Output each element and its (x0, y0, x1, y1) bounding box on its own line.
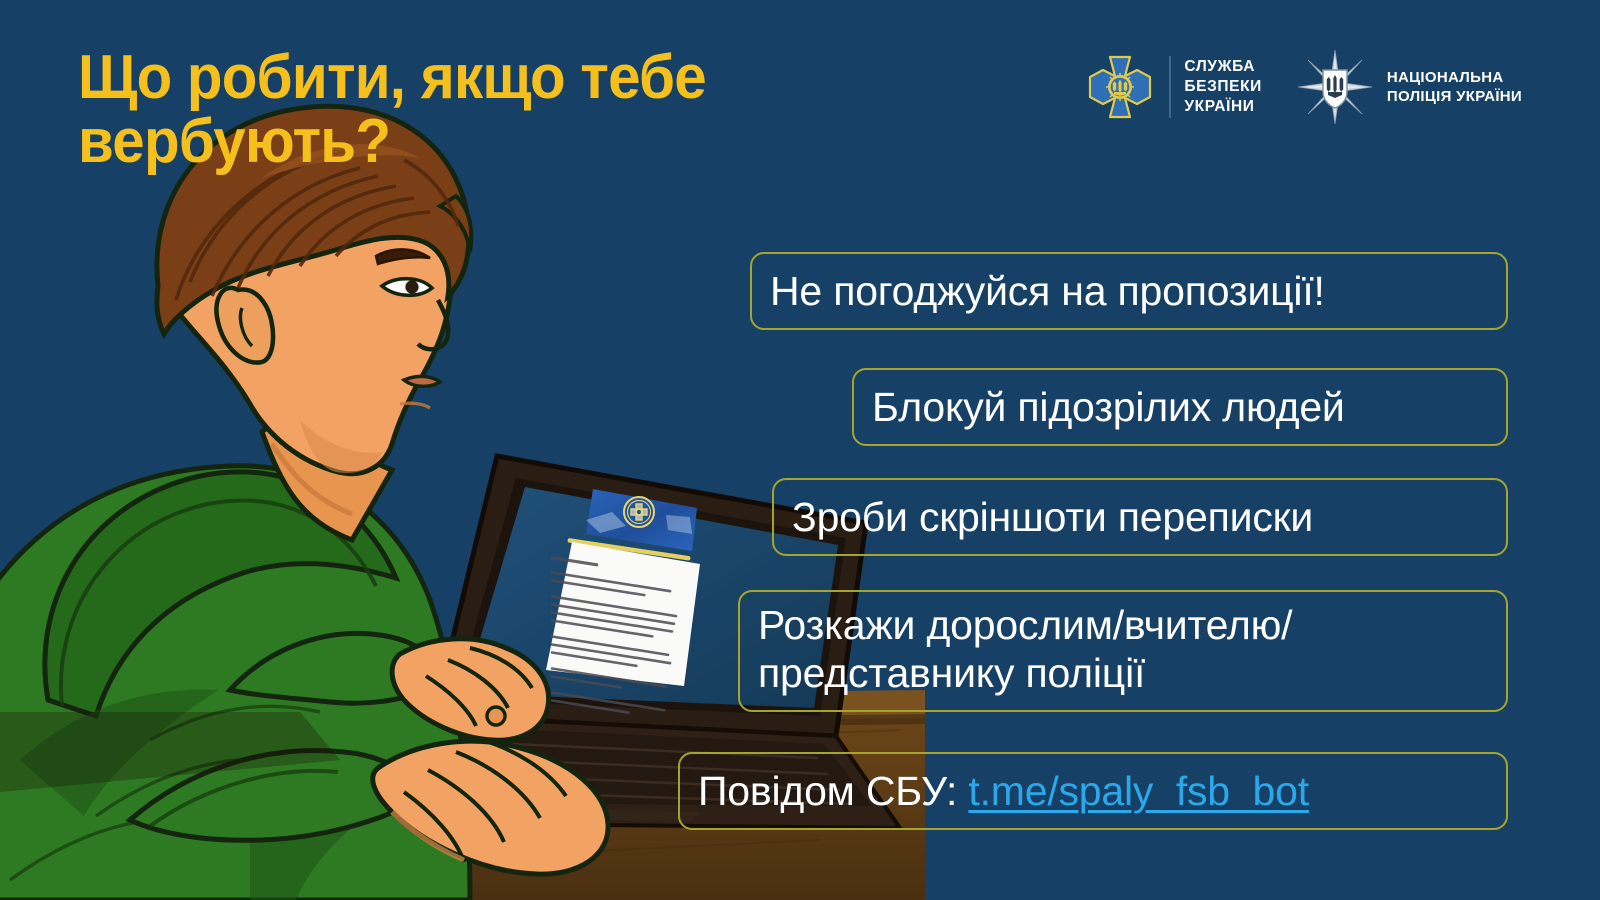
logo-sbu: СЛУЖБА БЕЗПЕКИ УКРАЇНИ (1084, 51, 1261, 123)
callout-take-screenshots: Зроби скріншоти переписки (772, 478, 1508, 556)
callout-do-not-agree: Не погоджуйся на пропозиції! (750, 252, 1508, 330)
page-title: Що робити, якщо тебе вербують? (78, 46, 868, 174)
logo-divider (1169, 56, 1171, 118)
logo-sbu-label: СЛУЖБА БЕЗПЕКИ УКРАЇНИ (1184, 57, 1261, 116)
sbu-cross-emblem-icon (1084, 51, 1156, 123)
report-lead-text: Повідом СБУ: (698, 767, 968, 815)
logo-national-police-label: НАЦІОНАЛЬНА ПОЛІЦІЯ УКРАЇНИ (1387, 68, 1522, 106)
callout-block-suspicious-people: Блокуй підозрілих людей (852, 368, 1508, 446)
national-police-star-emblem-icon (1296, 48, 1374, 126)
telegram-bot-link[interactable]: t.me/spaly_fsb_bot (968, 767, 1309, 815)
logo-national-police: НАЦІОНАЛЬНА ПОЛІЦІЯ УКРАЇНИ (1296, 48, 1522, 126)
callout-report-to-sbu: Повідом СБУ: t.me/spaly_fsb_bot (678, 752, 1508, 830)
agency-logos: СЛУЖБА БЕЗПЕКИ УКРАЇНИ (1084, 48, 1522, 126)
callout-tell-adults-teacher-police: Розкажи дорослим/вчителю/ представнику п… (738, 590, 1508, 712)
